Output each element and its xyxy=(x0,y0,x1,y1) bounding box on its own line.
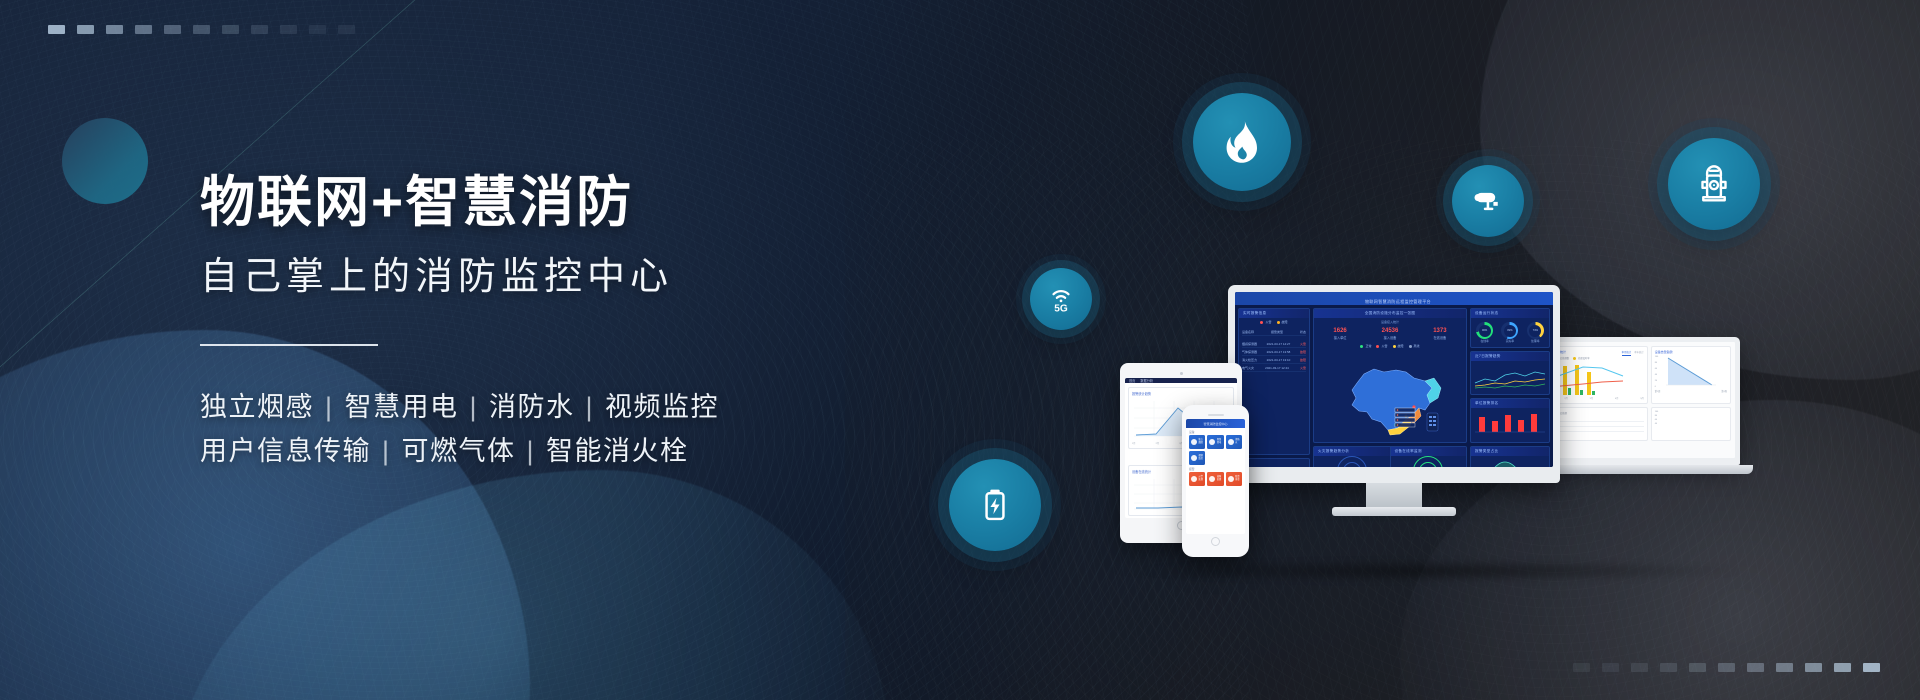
page-subtitle: 自己掌上的消防监控中心 xyxy=(200,253,960,302)
tablet-camera xyxy=(1180,372,1183,375)
decorative-circle xyxy=(62,118,148,204)
fire-hydrant-icon xyxy=(1691,161,1737,207)
legend-item: 离线 xyxy=(1409,344,1420,348)
phone-card[interactable]: 独立烟感 xyxy=(1189,435,1205,449)
gauge-row: 96%在线率82%完好率74%处理率 xyxy=(1471,318,1549,347)
radar-chart-green xyxy=(1413,456,1443,467)
phone-card-label: 智慧用电 xyxy=(1217,439,1221,445)
table-row[interactable]: 烟感探测器2021-03-17 14:27火警 xyxy=(1242,340,1306,348)
feature-separator: | xyxy=(575,392,606,422)
alarm-table-header: 设备名称报警类型状态 xyxy=(1239,326,1309,338)
laptop-misc-card: 100806040 xyxy=(1651,407,1731,441)
gauge-item: 74%处理率 xyxy=(1527,322,1544,343)
dash-mark xyxy=(77,25,94,34)
table-cell-name: 消火栓压力 xyxy=(1242,358,1257,362)
dash-mark xyxy=(1689,663,1706,672)
phone-speaker xyxy=(1208,414,1224,416)
laptop-chart2-title: 设备告警趋势 xyxy=(1655,350,1727,354)
laptop-chart2-yaxis: 100806040200 xyxy=(1655,356,1658,388)
feature-item[interactable]: 可燃气体 xyxy=(402,436,516,466)
phone-card[interactable]: 火警处理 xyxy=(1189,472,1205,486)
hero-copy: 物联网+智慧消防 自己掌上的消防监控中心 独立烟感|智慧用电|消防水|视频监控用… xyxy=(200,170,960,474)
dash-mark xyxy=(1602,663,1619,672)
fire-hydrant-icon-bubble[interactable] xyxy=(1668,138,1760,230)
legend-dot xyxy=(1409,345,1412,348)
axis-tick: 100 xyxy=(1655,356,1658,358)
gauge-label: 完好率 xyxy=(1501,339,1518,343)
table-header-row: 设备名称报警类型状态 xyxy=(1242,328,1306,336)
phone-card-icon xyxy=(1228,476,1234,482)
map-legend: 正常火警故障离线 xyxy=(1314,342,1466,350)
tablet-tab-home[interactable]: 首页 xyxy=(1129,378,1135,383)
right-area-chart xyxy=(1471,456,1549,467)
smartphone-device: 智慧消防监控中心 设备 独立烟感智慧用电消防水视频监控 报警 火警处理故障处理隐… xyxy=(1182,405,1249,557)
feature-item[interactable]: 独立烟感 xyxy=(200,392,314,422)
legend-item: 正常 xyxy=(1360,344,1371,348)
phone-card-label: 火警处理 xyxy=(1199,476,1203,482)
dash-row-top-left xyxy=(48,25,355,34)
phone-card[interactable]: 故障处理 xyxy=(1207,472,1223,486)
feature-separator: | xyxy=(516,436,547,466)
phone-card[interactable]: 隐患排查 xyxy=(1226,472,1242,486)
kpi-label: 在线设备 xyxy=(1433,335,1446,340)
laptop-tab-year[interactable]: 本年统计 xyxy=(1634,350,1644,356)
phone-card-label: 消防水 xyxy=(1235,439,1239,445)
battery-bolt-icon xyxy=(973,483,1017,527)
axis-tick: 60 xyxy=(1655,368,1658,370)
5g-label: 5G xyxy=(1054,304,1068,315)
kpi-value: 1626 xyxy=(1333,328,1346,334)
gauge-ring: 96% xyxy=(1476,322,1493,339)
table-column-header: 设备名称 xyxy=(1242,330,1254,334)
trend-panel-title: 火灾报警趋势分析 xyxy=(1314,447,1390,456)
laptop-area-chart-card: 设备告警趋势 100806040200 第1周第4周 xyxy=(1651,346,1731,404)
phone-card-label: 故障处理 xyxy=(1217,476,1221,482)
phone-section-1: 设备 xyxy=(1186,428,1245,435)
feature-line-1: 独立烟感|智慧用电|消防水|视频监控 xyxy=(200,386,960,430)
page-title: 物联网+智慧消防 xyxy=(200,170,960,235)
gauge-label: 在线率 xyxy=(1476,339,1493,343)
desktop-monitor: 物联网智慧消防远程监控管理平台 实时报警信息 火警 故障 xyxy=(1228,285,1560,483)
alarm-legend: 火警 故障 xyxy=(1239,318,1309,326)
gauge-item: 96%在线率 xyxy=(1476,322,1493,343)
phone-card-icon xyxy=(1191,455,1197,461)
gauge-panel-title: 设备运行状态 xyxy=(1471,309,1549,318)
phone-card-label: 独立烟感 xyxy=(1199,439,1203,445)
feature-list: 独立烟感|智慧用电|消防水|视频监控用户信息传输|可燃气体|智能消火栓 xyxy=(200,386,960,473)
right-chart3-title: 报警类型占比 xyxy=(1471,447,1549,456)
5g-signal-icon-bubble[interactable]: 5G xyxy=(1030,268,1092,330)
5g-signal-icon: 5G xyxy=(1045,283,1077,315)
phone-header: 智慧消防监控中心 xyxy=(1186,419,1245,428)
laptop-chart2-axis: 第1周第4周 xyxy=(1655,389,1727,393)
table-cell-status: 火警 xyxy=(1300,342,1306,346)
legend-label: 正常 xyxy=(1365,344,1371,348)
table-cell-status: 故障 xyxy=(1300,358,1306,362)
alarm-table-rows: 烟感探测器2021-03-17 14:27火警气体探测器2021-03-17 1… xyxy=(1239,338,1309,454)
right-chart1-title: 近7日报警趋势 xyxy=(1471,352,1549,361)
phone-card-label: 隐患排查 xyxy=(1235,476,1239,482)
legend-item: 火警 xyxy=(1376,344,1387,348)
table-cell-type: 2021-03-17 12:44 xyxy=(1265,366,1289,370)
laptop-chart2-area xyxy=(1660,356,1718,388)
phone-card-icon xyxy=(1209,439,1215,445)
dash-mark xyxy=(1747,663,1764,672)
dash-mark xyxy=(106,25,123,34)
phone-screen: 智慧消防监控中心 设备 独立烟感智慧用电消防水视频监控 报警 火警处理故障处理隐… xyxy=(1186,419,1245,534)
phone-card[interactable]: 消防水 xyxy=(1226,435,1242,449)
table-cell-type: 2021-03-17 13:58 xyxy=(1267,350,1291,354)
table-cell-status: 故障 xyxy=(1300,350,1306,354)
dash-mark xyxy=(135,25,152,34)
axis-tick: 第4周 xyxy=(1721,389,1727,393)
table-cell-status: 火警 xyxy=(1300,366,1306,370)
axis-tick: 40 xyxy=(1655,423,1727,425)
flame-icon-bubble[interactable] xyxy=(1193,93,1291,191)
table-cell-type: 2021-03-17 14:27 xyxy=(1267,342,1291,346)
dash-mark xyxy=(251,25,268,34)
dash-mark xyxy=(1573,663,1590,672)
feature-item[interactable]: 智能消火栓 xyxy=(546,436,689,466)
legend-label: 离线 xyxy=(1414,344,1420,348)
dashboard-header: 物联网智慧消防远程监控管理平台 xyxy=(1235,292,1553,305)
title-divider xyxy=(200,344,378,346)
laptop-screen: 月度报警与处理统计 本月统计 本年统计 报警数 已处理数 处理及时率 xyxy=(1531,342,1735,458)
dash-mark xyxy=(164,25,181,34)
dash-mark xyxy=(1631,663,1648,672)
china-map-svg xyxy=(1326,350,1454,442)
cctv-camera-icon xyxy=(1470,183,1506,219)
legend-dot xyxy=(1393,345,1396,348)
dash-mark xyxy=(280,25,297,34)
kpi-row: 1626接入单位24536接入设备1373在线设备 xyxy=(1314,324,1466,342)
feature-separator: | xyxy=(459,392,490,422)
flame-icon xyxy=(1218,118,1266,166)
table-row[interactable]: 电气火灾2021-03-17 12:44火警 xyxy=(1242,364,1306,372)
phone-card[interactable]: 视频监控 xyxy=(1189,451,1205,465)
map-panel-title: 全国消防设施分布监控一张图 xyxy=(1314,309,1466,318)
dash-mark xyxy=(338,25,355,34)
axis-tick: 0 xyxy=(1655,386,1658,388)
feature-item[interactable]: 用户信息传输 xyxy=(200,436,371,466)
monitor-screen: 物联网智慧消防远程监控管理平台 实时报警信息 火警 故障 xyxy=(1235,292,1553,467)
feature-separator: | xyxy=(314,392,345,422)
dash-mark xyxy=(309,25,326,34)
table-cell-name: 电气火灾 xyxy=(1242,366,1254,370)
axis-tick: 40 xyxy=(1655,374,1658,376)
axis-tick: 100 xyxy=(1655,411,1727,413)
right-bar-chart xyxy=(1471,408,1549,436)
phone-device-grid: 独立烟感智慧用电消防水视频监控 xyxy=(1186,435,1245,465)
table-row[interactable]: 气体探测器2021-03-17 13:58故障 xyxy=(1242,348,1306,356)
right-line-chart xyxy=(1471,361,1549,391)
axis-tick: 20 xyxy=(1655,380,1658,382)
legend-label: 火警 xyxy=(1381,344,1387,348)
kpi-label: 接入设备 xyxy=(1382,335,1399,340)
axis-tick: 2月 xyxy=(1156,441,1159,445)
laptop-chart3-yaxis: 100806040 xyxy=(1655,411,1727,425)
feature-item[interactable]: 消防水 xyxy=(489,392,575,422)
kpi-item: 1373在线设备 xyxy=(1433,328,1446,340)
gauge-value: 82% xyxy=(1504,325,1516,337)
axis-tick: 60 xyxy=(1655,419,1727,421)
phone-card-icon xyxy=(1209,476,1215,482)
dash-mark xyxy=(1805,663,1822,672)
table-cell-name: 烟感探测器 xyxy=(1242,342,1257,346)
battery-bolt-icon-bubble[interactable] xyxy=(949,459,1041,551)
legend-dot xyxy=(1360,345,1363,348)
alarm-panel-title: 实时报警信息 xyxy=(1239,309,1309,318)
hero-banner: 物联网+智慧消防 自己掌上的消防监控中心 独立烟感|智慧用电|消防水|视频监控用… xyxy=(0,0,1920,700)
dash-row-bottom-right xyxy=(1573,663,1880,672)
monitor-stand-base xyxy=(1332,507,1456,516)
laptop-tab-month[interactable]: 本月统计 xyxy=(1622,350,1632,356)
dashboard-title: 物联网智慧消防远程监控管理平台 xyxy=(1365,299,1431,304)
dash-mark xyxy=(222,25,239,34)
table-cell-name: 气体探测器 xyxy=(1242,350,1257,354)
dash-mark xyxy=(1863,663,1880,672)
monitor-stand-neck xyxy=(1366,483,1422,509)
legend-dot xyxy=(1376,345,1379,348)
tablet-panel1-title: 报警统计趋势 xyxy=(1132,391,1230,396)
gauge-item: 82%完好率 xyxy=(1501,322,1518,343)
feature-line-2: 用户信息传输|可燃气体|智能消火栓 xyxy=(200,430,960,474)
dash-mark xyxy=(1776,663,1793,672)
right-chart2-title: 单位报警排名 xyxy=(1471,399,1549,408)
dash-mark xyxy=(1718,663,1735,672)
phone-card-icon xyxy=(1191,476,1197,482)
phone-card-icon xyxy=(1228,439,1234,445)
kpi-label: 接入单位 xyxy=(1333,335,1346,340)
feature-item[interactable]: 视频监控 xyxy=(605,392,719,422)
kpi-value: 24536 xyxy=(1382,328,1399,334)
kpi-item: 24536接入设备 xyxy=(1382,328,1399,340)
table-cell-type: 2021-03-17 13:10 xyxy=(1267,358,1291,362)
phone-alarm-grid: 火警处理故障处理隐患排查 xyxy=(1186,472,1245,486)
tablet-header: 首页 数据分析 xyxy=(1125,378,1237,383)
axis-tick: 1月 xyxy=(1132,441,1135,445)
gauge-label: 处理率 xyxy=(1527,339,1544,343)
legend-item: 故障 xyxy=(1393,344,1404,348)
table-column-header: 状态 xyxy=(1300,330,1306,334)
gauge-ring: 82% xyxy=(1501,322,1518,339)
dash-mark xyxy=(193,25,210,34)
gauge-value: 74% xyxy=(1529,325,1541,337)
axis-tick: 第1周 xyxy=(1655,389,1661,393)
device-cluster: 月度报警与处理统计 本月统计 本年统计 报警数 已处理数 处理及时率 xyxy=(1120,285,1740,575)
dash-mark xyxy=(48,25,65,34)
china-map xyxy=(1314,350,1466,442)
dash-mark xyxy=(1660,663,1677,672)
table-column-header: 报警类型 xyxy=(1271,330,1283,334)
radar-chart-blue xyxy=(1337,456,1367,467)
dash-mark xyxy=(1834,663,1851,672)
kpi-item: 1626接入单位 xyxy=(1333,328,1346,340)
axis-tick: 80 xyxy=(1655,415,1727,417)
legend-label: 故障 xyxy=(1398,344,1404,348)
cctv-camera-icon-bubble[interactable] xyxy=(1452,165,1524,237)
axis-tick: 5月 xyxy=(1640,396,1643,400)
gauge-ring: 74% xyxy=(1527,322,1544,339)
table-row[interactable]: 消火栓压力2021-03-17 13:10故障 xyxy=(1242,356,1306,364)
phone-home-button[interactable] xyxy=(1211,537,1220,546)
tablet-tab-analysis[interactable]: 数据分析 xyxy=(1140,378,1153,383)
phone-card[interactable]: 智慧用电 xyxy=(1207,435,1223,449)
online-panel-title: 设备在线率监测 xyxy=(1391,447,1467,456)
feature-separator: | xyxy=(371,436,402,466)
gauge-value: 96% xyxy=(1479,325,1491,337)
phone-section-2: 报警 xyxy=(1186,465,1245,472)
phone-card-icon xyxy=(1191,439,1197,445)
axis-tick: 80 xyxy=(1655,362,1658,364)
phone-card-label: 视频监控 xyxy=(1199,455,1203,461)
kpi-value: 1373 xyxy=(1433,328,1446,334)
feature-item[interactable]: 智慧用电 xyxy=(345,392,459,422)
